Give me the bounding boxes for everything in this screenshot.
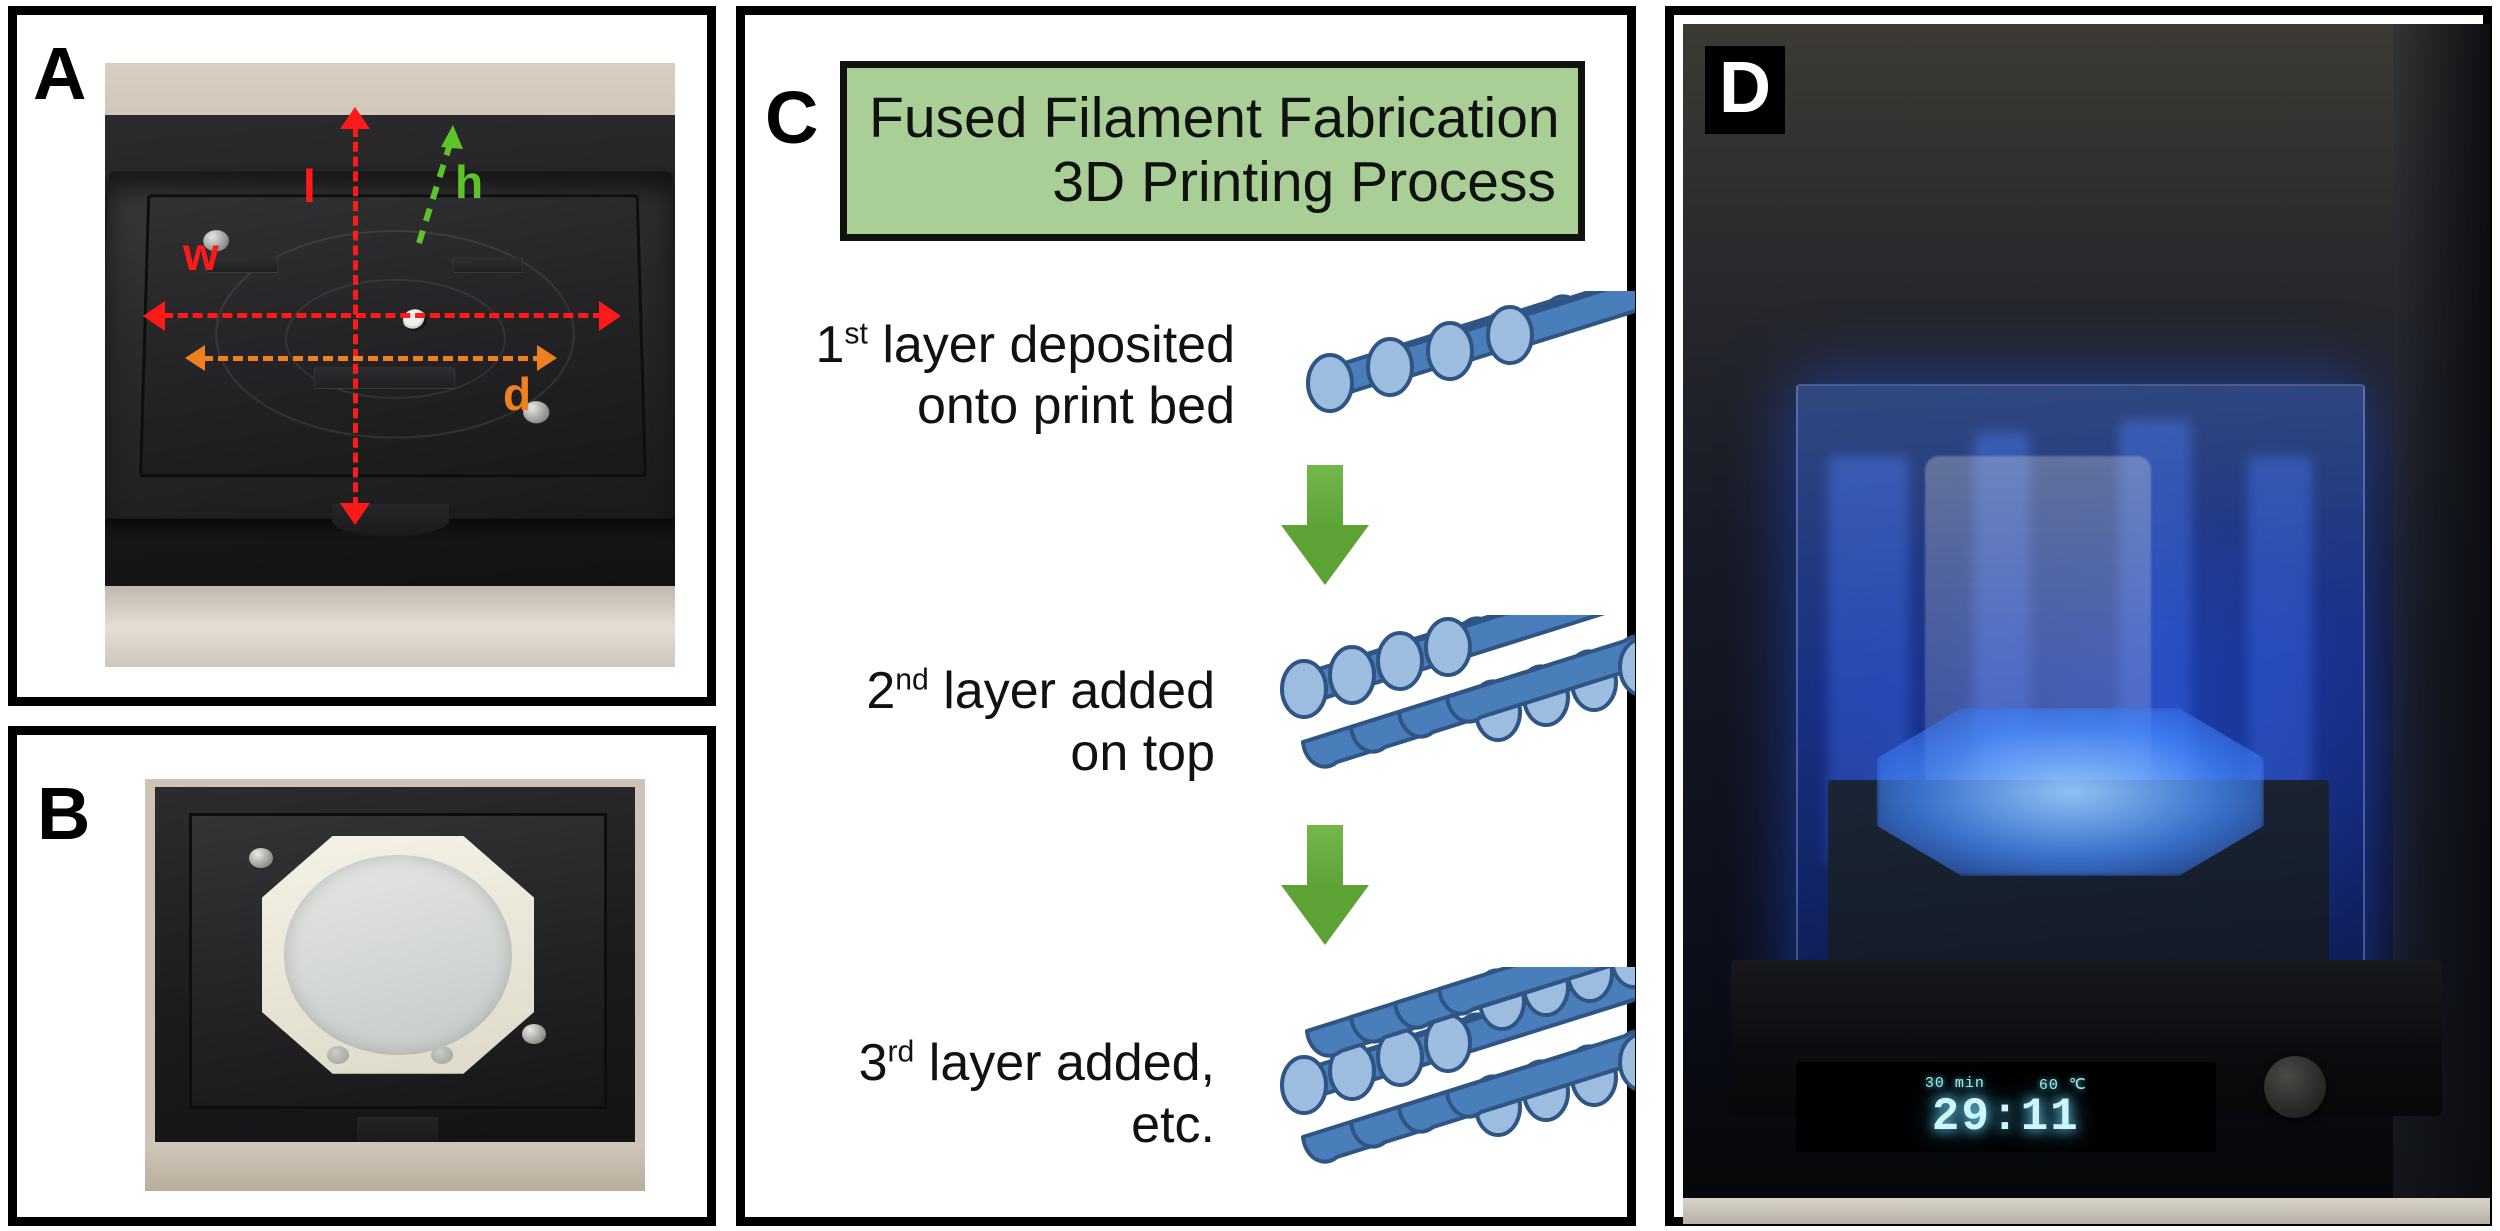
filament-layer-1-svg (1295, 291, 1635, 461)
panel-a: A (8, 6, 716, 706)
arrow-shaft (1307, 465, 1343, 527)
panel-c-letter: C (765, 81, 818, 155)
length-arrow-head-up (340, 107, 370, 129)
width-dimension-line (163, 313, 603, 318)
step-1-ordinal-suffix: st (844, 317, 867, 350)
bench-background-bottom (105, 579, 675, 667)
step-3-text: 3rd layer added, etc. (785, 1033, 1215, 1156)
display-countdown-timer: 29:11 (1932, 1094, 2080, 1140)
process-step-1: 1st layer deposited onto print bed (805, 291, 1635, 461)
printed-adapter-part (262, 836, 534, 1074)
panel-d-photo: 30 min 60 ℃ 29:11 D (1683, 24, 2490, 1224)
filament-layer-2-svg (1275, 615, 1635, 830)
printer-body (155, 787, 635, 1150)
dimension-label-d: d (503, 371, 531, 417)
tray-notch (452, 257, 523, 273)
panel-b-letter: B (37, 777, 90, 851)
tray-screw (249, 848, 273, 868)
adapter-alignment-pin (431, 1046, 453, 1064)
process-arrow-1 (1281, 465, 1369, 585)
process-step-2: 2nd layer added on top (785, 615, 1635, 830)
build-tray (189, 813, 608, 1109)
panel-b-photo (145, 779, 645, 1191)
step-1-line2: onto print bed (917, 377, 1235, 435)
step-2-line2: on top (1070, 724, 1215, 782)
bench-background (1683, 1198, 2490, 1224)
step-2-line1-rest: layer added (929, 662, 1215, 720)
panel-b: B (8, 726, 716, 1226)
diameter-dimension-line (203, 356, 543, 361)
step-3-filament-illustration (1275, 967, 1635, 1222)
step-2-text: 2nd layer added on top (785, 661, 1215, 784)
bench-background (145, 1142, 645, 1191)
tray-notch (313, 367, 454, 389)
length-arrow-head-down (340, 503, 370, 525)
cured-printed-part (1877, 708, 2264, 876)
arrow-shaft (1307, 825, 1343, 887)
arrow-head (1281, 525, 1369, 585)
figure-root: A (0, 0, 2500, 1231)
printed-adapter-aperture (284, 855, 513, 1055)
dimension-label-w: w (183, 231, 219, 277)
panel-a-photo: l w d h (105, 63, 675, 667)
arrow-head (1281, 885, 1369, 945)
control-knob[interactable] (2264, 1056, 2326, 1118)
step-2-filament-illustration (1275, 615, 1635, 830)
title-line-1: Fused Filament Fabrication (847, 87, 1578, 151)
diameter-arrow-head-right (537, 345, 557, 371)
panel-c-title-box: Fused Filament Fabrication 3D Printing P… (840, 61, 1585, 241)
step-2-ordinal-suffix: nd (895, 664, 929, 697)
machine-display-panel: 30 min 60 ℃ 29:11 (1796, 1062, 2216, 1152)
step-1-ordinal: 1 (815, 316, 844, 374)
step-3-ordinal-suffix: rd (888, 1036, 915, 1069)
step-1-filament-illustration (1295, 291, 1635, 461)
panel-d-letter: D (1705, 46, 1785, 134)
process-step-3: 3rd layer added, etc. (785, 967, 1635, 1222)
panel-d: 30 min 60 ℃ 29:11 D (1665, 6, 2492, 1226)
step-3-line1-rest: layer added, (914, 1034, 1215, 1092)
process-arrow-2 (1281, 825, 1369, 945)
adapter-alignment-pin (327, 1046, 349, 1064)
panel-a-letter: A (33, 37, 86, 111)
tray-screw (522, 1024, 546, 1044)
width-arrow-head-left (143, 301, 165, 331)
width-arrow-head-right (599, 301, 621, 331)
step-3-line2: etc. (1131, 1096, 1215, 1154)
filament-layer-3-svg (1275, 967, 1635, 1222)
step-1-line1-rest: layer deposited (868, 316, 1235, 374)
dimension-label-h: h (455, 159, 483, 205)
step-1-text: 1st layer deposited onto print bed (805, 315, 1235, 438)
diameter-arrow-head-left (185, 345, 205, 371)
dimension-label-l: l (303, 163, 316, 209)
title-line-2: 3D Printing Process (847, 151, 1578, 215)
step-3-ordinal: 3 (859, 1034, 888, 1092)
panel-c: C Fused Filament Fabrication 3D Printing… (736, 6, 1636, 1226)
step-2-ordinal: 2 (866, 662, 895, 720)
